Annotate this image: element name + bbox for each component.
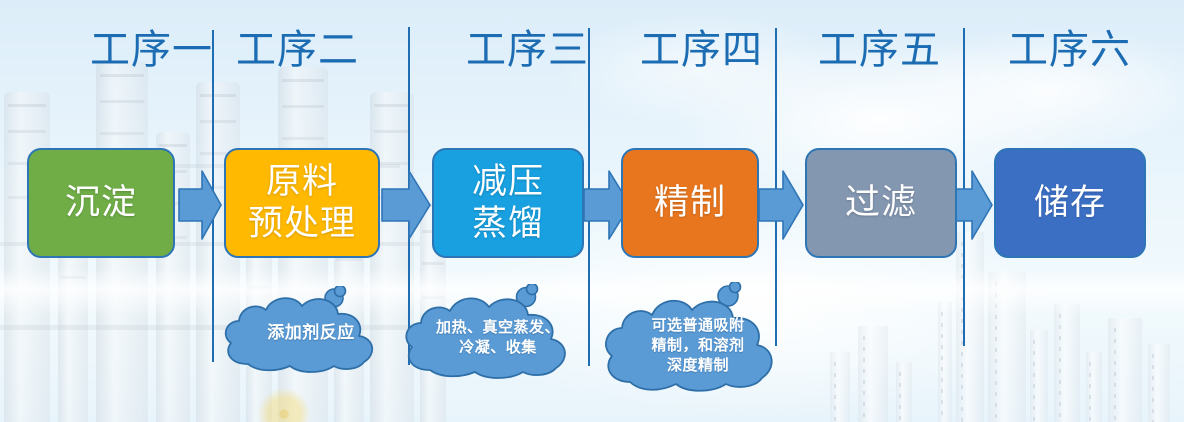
process-box-label: 沉淀 — [65, 182, 137, 224]
process-flow-diagram: 工序一 工序二 工序三 工序四 工序五 工序六 沉淀 原料 — [0, 0, 1184, 422]
process-box-storage[interactable]: 储存 — [994, 148, 1146, 258]
stage-label-5: 工序五 — [818, 28, 941, 72]
process-box-label: 过滤 — [845, 182, 917, 224]
thought-cloud-refining: 可选普通吸附 精制，和溶剂 深度精制 — [598, 282, 798, 400]
process-box-precipitation[interactable]: 沉淀 — [27, 148, 175, 258]
thought-cloud-pretreatment: 添加剂反应 — [218, 286, 404, 378]
process-box-filtration[interactable]: 过滤 — [805, 148, 957, 258]
stage-label-4: 工序四 — [640, 28, 763, 72]
process-box-refining[interactable]: 精制 — [621, 148, 759, 258]
process-box-vacuum-distillation[interactable]: 减压 蒸馏 — [432, 148, 584, 258]
flow-arrow-4 — [758, 168, 804, 242]
thought-cloud-distillation: 加热、真空蒸发、 冷凝、收集 — [398, 284, 598, 384]
process-box-label: 精制 — [654, 182, 726, 224]
stage-label-1: 工序一 — [90, 28, 213, 72]
flow-arrow-1 — [178, 168, 222, 242]
stage-label-2: 工序二 — [236, 28, 359, 72]
flow-arrow-2 — [381, 168, 431, 242]
process-box-label: 储存 — [1034, 182, 1106, 224]
process-box-pretreatment[interactable]: 原料 预处理 — [224, 148, 380, 258]
stage-label-3: 工序三 — [466, 28, 589, 72]
process-box-label: 减压 蒸馏 — [472, 161, 544, 245]
stage-label-6: 工序六 — [1008, 28, 1131, 72]
process-box-label: 原料 预处理 — [248, 161, 356, 245]
